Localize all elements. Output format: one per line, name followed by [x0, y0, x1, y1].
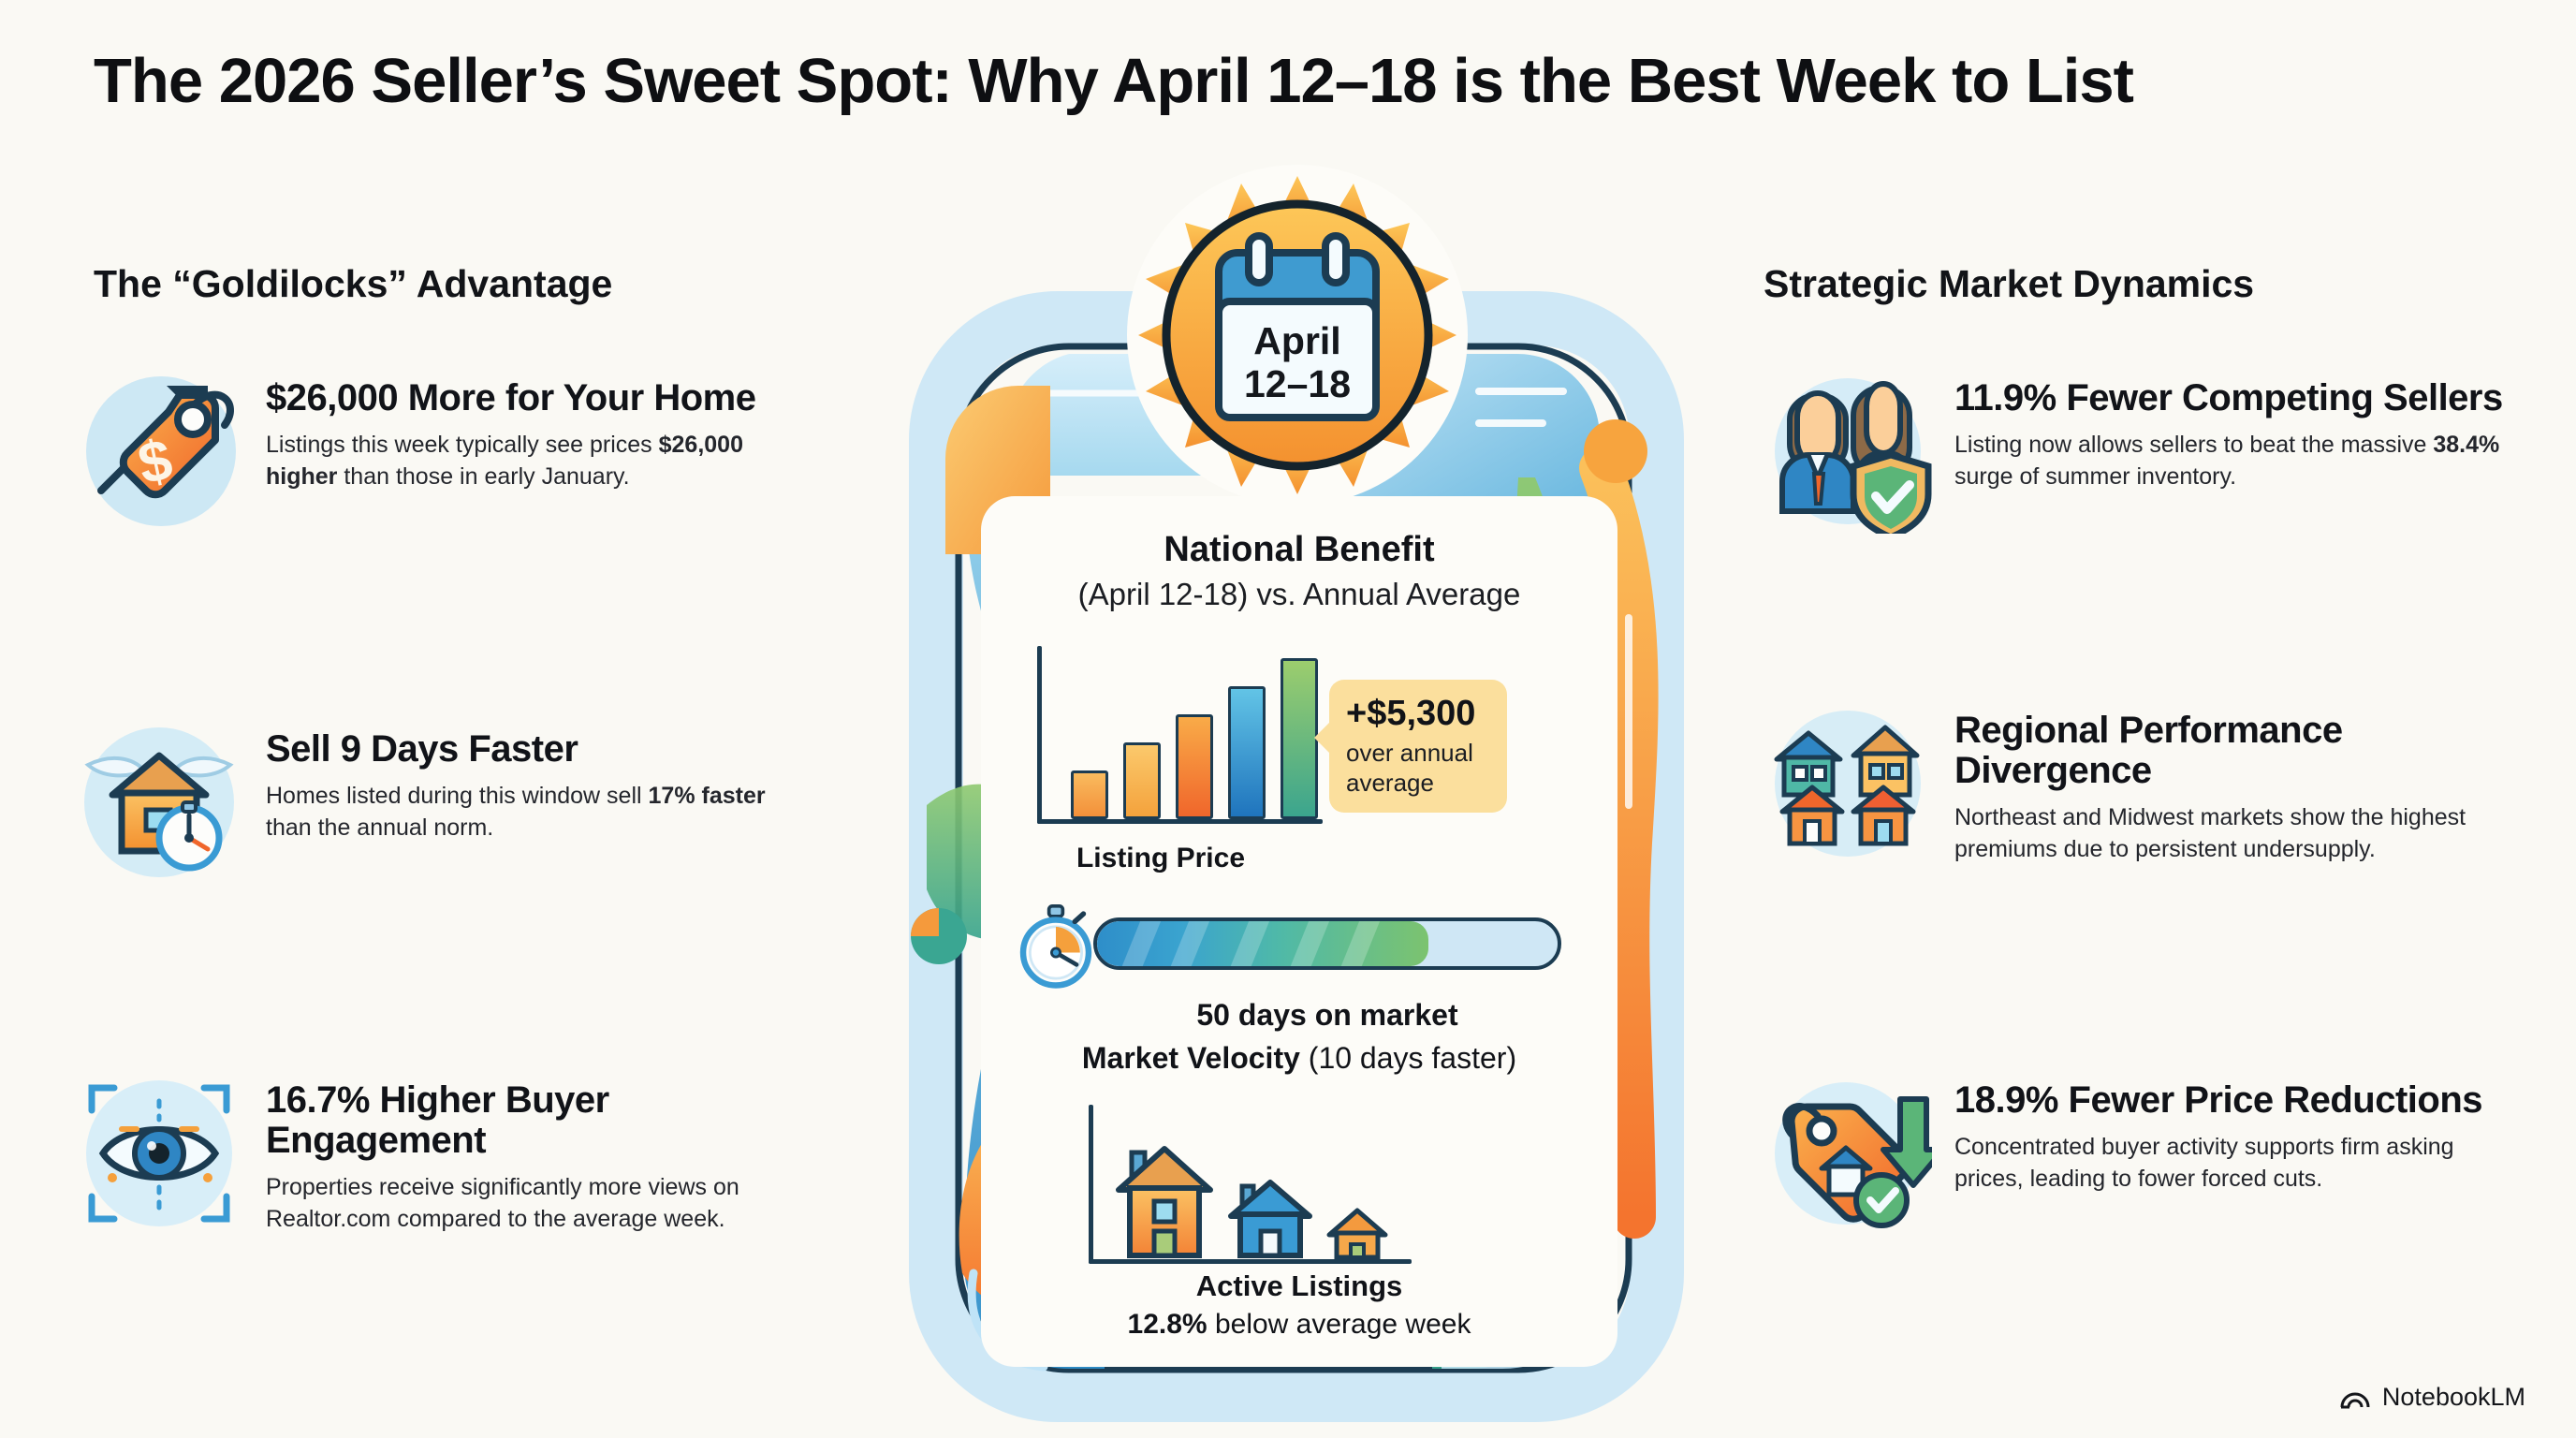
sun-calendar-badge: April 12–18	[1121, 159, 1473, 511]
right-column-heading: Strategic Market Dynamics	[1764, 262, 2254, 306]
body-post: surge of summer inventory.	[1954, 463, 2236, 490]
feature-body: Listings this week typically see prices …	[266, 430, 814, 492]
body-pre: Northeast and Midwest markets show the h…	[1954, 804, 2466, 862]
listings-sub: 12.8% below average week	[990, 1309, 1608, 1341]
listings-y-axis	[1089, 1105, 1093, 1264]
left-column-heading: The “Goldilocks” Advantage	[94, 262, 612, 306]
velocity-progress-fill	[1097, 921, 1428, 966]
velocity-days-value: 50 days on market	[1112, 998, 1543, 1033]
three-houses-neighborhood-icon	[1764, 697, 1932, 866]
active-listings-chart	[1089, 1105, 1407, 1264]
person-male	[1782, 393, 1853, 511]
listing-price-bar-chart	[1037, 646, 1318, 824]
bar-1	[1071, 770, 1108, 819]
feature-body: Properties receive significantly more vi…	[266, 1172, 814, 1235]
listings-note: below average week	[1207, 1309, 1471, 1340]
feature-fewer-sellers: 11.9% Fewer Competing Sellers Listing no…	[1764, 365, 2512, 534]
body-pre: Concentrated buyer activity supports fir…	[1954, 1134, 2454, 1192]
listings-label: Active Listings	[1000, 1269, 1599, 1303]
chart-x-axis	[1037, 819, 1323, 824]
feature-body: Concentrated buyer activity supports fir…	[1954, 1132, 2512, 1195]
two-people-shield-check-icon	[1764, 365, 1932, 534]
chart-y-axis	[1037, 646, 1042, 824]
listings-x-axis	[1089, 1259, 1412, 1264]
price-tag-dollar-up-icon: $	[75, 365, 243, 534]
center-subtitle: (April 12-18) vs. Annual Average	[981, 577, 1617, 612]
callout-amount: +$5,300	[1346, 695, 1490, 734]
bar-2	[1123, 742, 1161, 819]
body-pre: Listing now allows sellers to beat the m…	[1954, 432, 2433, 458]
body-pre: Properties receive significantly more vi…	[266, 1174, 739, 1232]
body-bold: 17% faster	[649, 783, 766, 809]
velocity-progress-track	[1093, 917, 1561, 970]
stopwatch-icon	[1013, 904, 1099, 990]
infographic-root: The 2026 Seller’s Sweet Spot: Why April …	[0, 0, 2576, 1438]
house-large-icon	[1113, 1137, 1216, 1259]
eye-scan-engagement-icon	[75, 1067, 243, 1236]
velocity-label: Market Velocity	[1082, 1041, 1300, 1075]
feature-heading: 11.9% Fewer Competing Sellers	[1954, 378, 2512, 418]
feature-heading: Regional Performance Divergence	[1954, 711, 2512, 791]
feature-heading: 18.9% Fewer Price Reductions	[1954, 1080, 2512, 1121]
watermark: NotebookLM	[2339, 1383, 2525, 1412]
check-badge-icon	[1856, 1175, 1907, 1225]
feature-price-premium: $ $26,000 More for Your Home Listings th…	[75, 365, 814, 534]
feature-sell-faster: Sell 9 Days Faster Homes listed during t…	[75, 716, 814, 885]
feature-heading: $26,000 More for Your Home	[266, 378, 814, 418]
chart-x-label: Listing Price	[1020, 843, 1301, 874]
watermark-label: NotebookLM	[2382, 1383, 2525, 1412]
notebooklm-logo-icon	[2339, 1386, 2371, 1410]
page-title: The 2026 Seller’s Sweet Spot: Why April …	[94, 45, 2490, 117]
price-callout: +$5,300 over annual average	[1329, 680, 1507, 813]
badge-month: April	[1253, 319, 1340, 362]
center-title: National Benefit	[981, 530, 1617, 570]
feature-body: Homes listed during this window sell 17%…	[266, 781, 814, 844]
price-tag-down-arrow-check-icon	[1764, 1067, 1932, 1236]
badge-days: 12–18	[1244, 362, 1351, 405]
center-panel: National Benefit (April 12-18) vs. Annua…	[981, 496, 1617, 1367]
velocity-note: (10 days faster)	[1309, 1041, 1516, 1075]
house-small-icon	[1326, 1205, 1388, 1259]
listings-value: 12.8%	[1128, 1309, 1207, 1340]
feature-fewer-price-cuts: 18.9% Fewer Price Reductions Concentrate…	[1764, 1067, 2512, 1236]
callout-note: over annual average	[1346, 738, 1490, 798]
body-post: than those in early January.	[337, 463, 629, 490]
bar-3	[1176, 714, 1213, 819]
body-bold: 38.4%	[2433, 432, 2499, 458]
feature-body: Listing now allows sellers to beat the m…	[1954, 430, 2512, 492]
velocity-caption: Market Velocity (10 days faster)	[990, 1041, 1608, 1076]
feature-body: Northeast and Midwest markets show the h…	[1954, 802, 2512, 865]
bar-4	[1228, 686, 1266, 819]
flying-house-stopwatch-icon	[75, 716, 243, 885]
feature-regional-divergence: Regional Performance Divergence Northeas…	[1764, 697, 2512, 866]
body-pre: Listings this week typically see prices	[266, 432, 659, 458]
market-velocity-gauge	[1013, 901, 1586, 985]
body-post: than the annual norm.	[266, 814, 493, 841]
feature-heading: 16.7% Higher Buyer Engagement	[266, 1080, 814, 1161]
house-medium-icon	[1227, 1173, 1313, 1259]
feature-heading: Sell 9 Days Faster	[266, 729, 814, 770]
body-pre: Homes listed during this window sell	[266, 783, 649, 809]
feature-buyer-engagement: 16.7% Higher Buyer Engagement Properties…	[75, 1067, 814, 1236]
